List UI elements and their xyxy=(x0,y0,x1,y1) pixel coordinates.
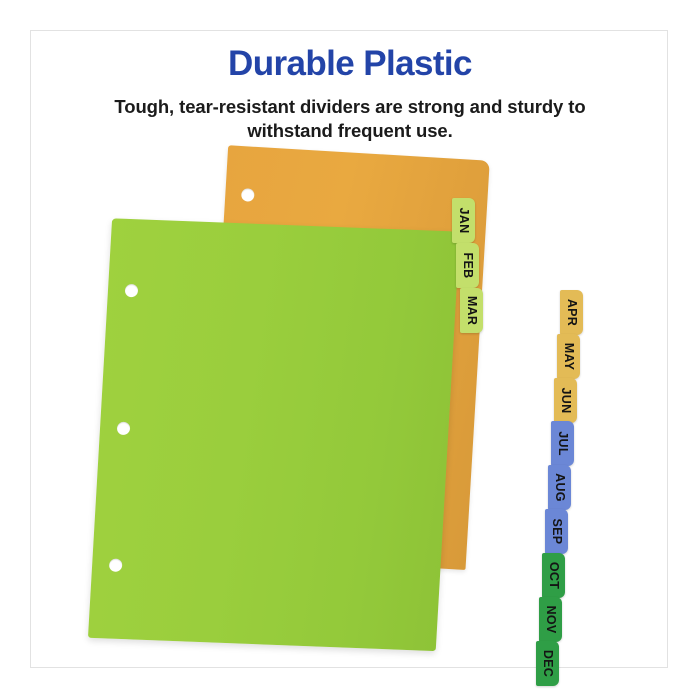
divider-tab-label: JAN xyxy=(452,198,475,243)
punch-hole xyxy=(117,422,131,435)
divider-tab-label: FEB xyxy=(456,243,479,288)
divider-tab-label: OCT xyxy=(542,553,565,598)
divider-tab-label: NOV xyxy=(539,597,562,642)
divider-tab-label: JUL xyxy=(551,421,574,466)
divider-tab-jun: JUN xyxy=(554,378,577,423)
product-photo: JAN FEB MAR APR MAY JUN JUL AU xyxy=(60,150,640,650)
divider-tab-label: AUG xyxy=(548,465,571,510)
punch-hole xyxy=(241,188,255,202)
green-divider-sheet xyxy=(88,218,460,651)
divider-tab-oct: OCT xyxy=(542,553,565,598)
divider-tab-apr: APR xyxy=(560,290,583,335)
divider-tab-label: MAR xyxy=(460,288,483,333)
divider-tab-sep: SEP xyxy=(545,509,568,554)
punch-hole xyxy=(125,284,139,297)
divider-tab-jan: JAN xyxy=(452,198,475,243)
divider-tab-may: MAY xyxy=(557,334,580,379)
divider-tab-label: APR xyxy=(560,290,583,335)
divider-tab-aug: AUG xyxy=(548,465,571,510)
product-image-stage: Durable Plastic Tough, tear-resistant di… xyxy=(0,0,700,700)
headings-block: Durable Plastic Tough, tear-resistant di… xyxy=(40,46,660,144)
divider-tab-label: MAY xyxy=(557,334,580,379)
divider-tab-nov: NOV xyxy=(539,597,562,642)
divider-tab-jul: JUL xyxy=(551,421,574,466)
divider-tab-label: SEP xyxy=(545,509,568,554)
divider-tab-label: DEC xyxy=(536,641,559,686)
punch-hole xyxy=(109,558,123,571)
page-subtitle: Tough, tear-resistant dividers are stron… xyxy=(70,95,630,144)
divider-tab-feb: FEB xyxy=(456,243,479,288)
divider-tab-mar: MAR xyxy=(460,288,483,333)
divider-tab-label: JUN xyxy=(554,378,577,423)
divider-tab-dec: DEC xyxy=(536,641,559,686)
page-title: Durable Plastic xyxy=(40,46,660,83)
